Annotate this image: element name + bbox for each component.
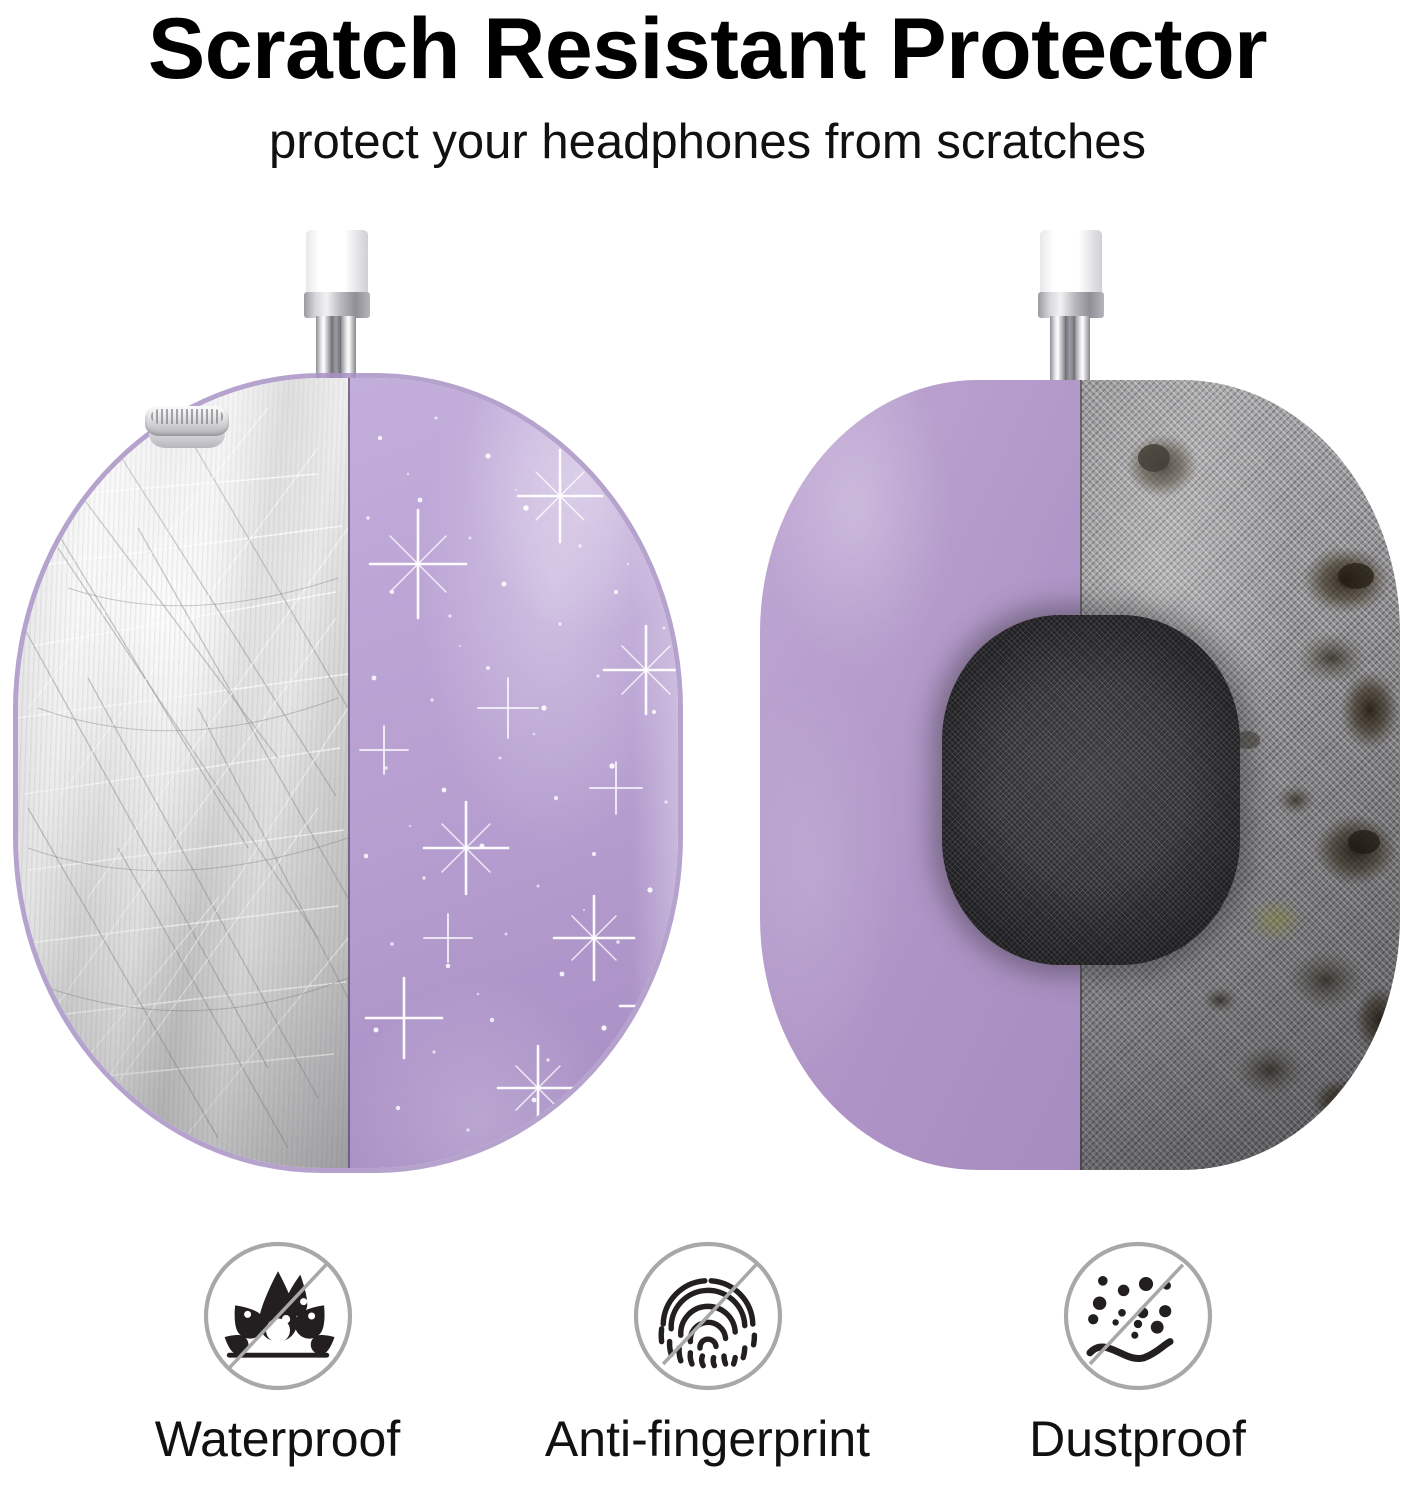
- features-row: Waterproof: [0, 1236, 1415, 1498]
- pad-vignette: [942, 615, 1240, 965]
- headphone-case-shell: [18, 378, 678, 1168]
- product-illustration: [0, 230, 1415, 1230]
- feature-label: Anti-fingerprint: [545, 1414, 870, 1464]
- feature-waterproof: Waterproof: [63, 1236, 493, 1464]
- feature-label: Waterproof: [155, 1414, 400, 1464]
- inner-ear-pad: [942, 615, 1240, 965]
- feature-label: Dustproof: [1029, 1414, 1246, 1464]
- anti-fingerprint-icon: [628, 1236, 788, 1396]
- page-subtitle: protect your headphones from scratches: [0, 118, 1415, 167]
- stem-metal-band: [1038, 292, 1104, 318]
- crown-ridges: [151, 409, 223, 424]
- glitter-protector-half: [348, 378, 678, 1168]
- comparison-split-line: [348, 378, 350, 1168]
- feature-dustproof: Dustproof: [923, 1236, 1353, 1464]
- waterproof-icon: [198, 1236, 358, 1396]
- page-title: Scratch Resistant Protector: [0, 6, 1415, 92]
- dustproof-icon: [1058, 1236, 1218, 1396]
- header: Scratch Resistant Protector protect your…: [0, 0, 1415, 167]
- stem-tube: [1040, 230, 1102, 298]
- scratched-metal-half: [18, 378, 348, 1168]
- digital-crown-icon: [145, 406, 229, 450]
- feature-anti-fingerprint: Anti-fingerprint: [493, 1236, 923, 1464]
- rim-light: [348, 378, 678, 1168]
- metal-shading: [18, 378, 348, 1168]
- stem-metal-band: [304, 292, 370, 318]
- stem-tube: [306, 230, 368, 298]
